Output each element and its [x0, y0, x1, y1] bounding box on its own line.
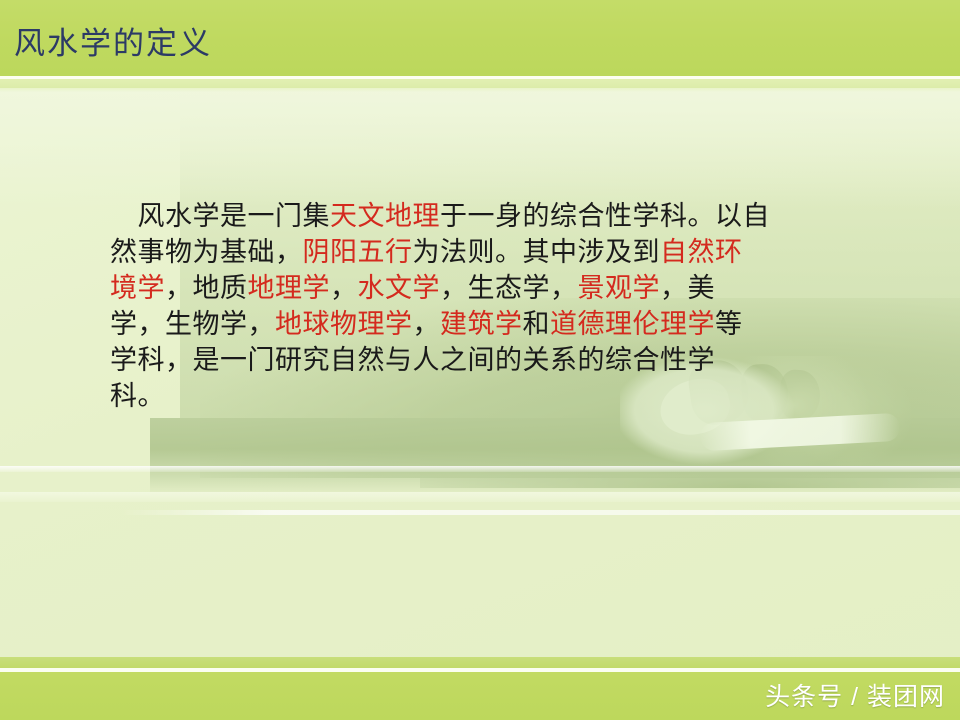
- body-text-line: 学科，是一门研究自然与人之间的关系的综合性学: [110, 342, 870, 378]
- body-text-run: 学科，是一门研究自然与人之间的关系的综合性学: [110, 345, 715, 375]
- body-text-line: 科。: [110, 378, 870, 414]
- body-text-run: 学，生物学，: [110, 309, 275, 339]
- slide-title: 风水学的定义: [14, 27, 212, 61]
- highlighted-term: 道德理伦理学: [550, 309, 715, 339]
- watermark-horizon-band: [150, 418, 960, 496]
- highlighted-term: 水文学: [358, 273, 441, 303]
- highlighted-term: 阴阳五行: [303, 237, 413, 267]
- body-text-run: 于一身的综合性学科。以自: [440, 201, 770, 231]
- body-text-line: 学，生物学，地球物理学，建筑学和道德理伦理学等: [110, 306, 870, 342]
- body-text-run: 为法则。其中涉及到: [413, 237, 661, 267]
- header-divider-green: [0, 79, 960, 88]
- body-text-run: ，地质: [165, 273, 248, 303]
- body-text-run: ，生态学，: [440, 273, 578, 303]
- watermark-highlight-line: [120, 510, 960, 515]
- body-text-line: 风水学是一门集天文地理于一身的综合性学科。以自: [110, 198, 870, 234]
- body-text-run: 风水学是一门集: [110, 201, 330, 231]
- watermark-sleeve: [699, 413, 900, 451]
- body-text-line: 境学，地质地理学，水文学，生态学，景观学，美: [110, 270, 870, 306]
- highlighted-term: 地球物理学: [275, 309, 413, 339]
- watermark-highlight-line: [0, 492, 960, 502]
- body-text-run: 然事物为基础，: [110, 237, 303, 267]
- highlighted-term: 天文地理: [330, 201, 440, 231]
- body-text-run: ，: [413, 309, 441, 339]
- highlighted-term: 境学: [110, 273, 165, 303]
- highlighted-term: 地理学: [248, 273, 331, 303]
- highlighted-term: 自然环: [660, 237, 743, 267]
- body-text-run: ，美: [660, 273, 715, 303]
- slide-header-bar: 风水学的定义: [0, 0, 960, 76]
- highlighted-term: 景观学: [578, 273, 661, 303]
- slide-body-text: 风水学是一门集天文地理于一身的综合性学科。以自然事物为基础，阴阳五行为法则。其中…: [110, 198, 870, 414]
- watermark-highlight-line: [0, 466, 960, 472]
- footer-divider-green: [0, 657, 960, 668]
- body-text-run: 科。: [110, 381, 165, 411]
- body-text-run: 和: [523, 309, 551, 339]
- header-divider-fade: [0, 88, 960, 92]
- highlighted-term: 建筑学: [440, 309, 523, 339]
- body-text-run: ，: [330, 273, 358, 303]
- footer-credit-label: 头条号 / 装团网: [765, 682, 945, 712]
- watermark-top-fade: [0, 88, 960, 208]
- presentation-slide: 风水学的定义 风水学是一门集天文地理于一身的综合性学科。以自然事物为基础，阴阳五…: [0, 0, 960, 720]
- body-text-line: 然事物为基础，阴阳五行为法则。其中涉及到自然环: [110, 234, 870, 270]
- body-text-run: 等: [715, 309, 743, 339]
